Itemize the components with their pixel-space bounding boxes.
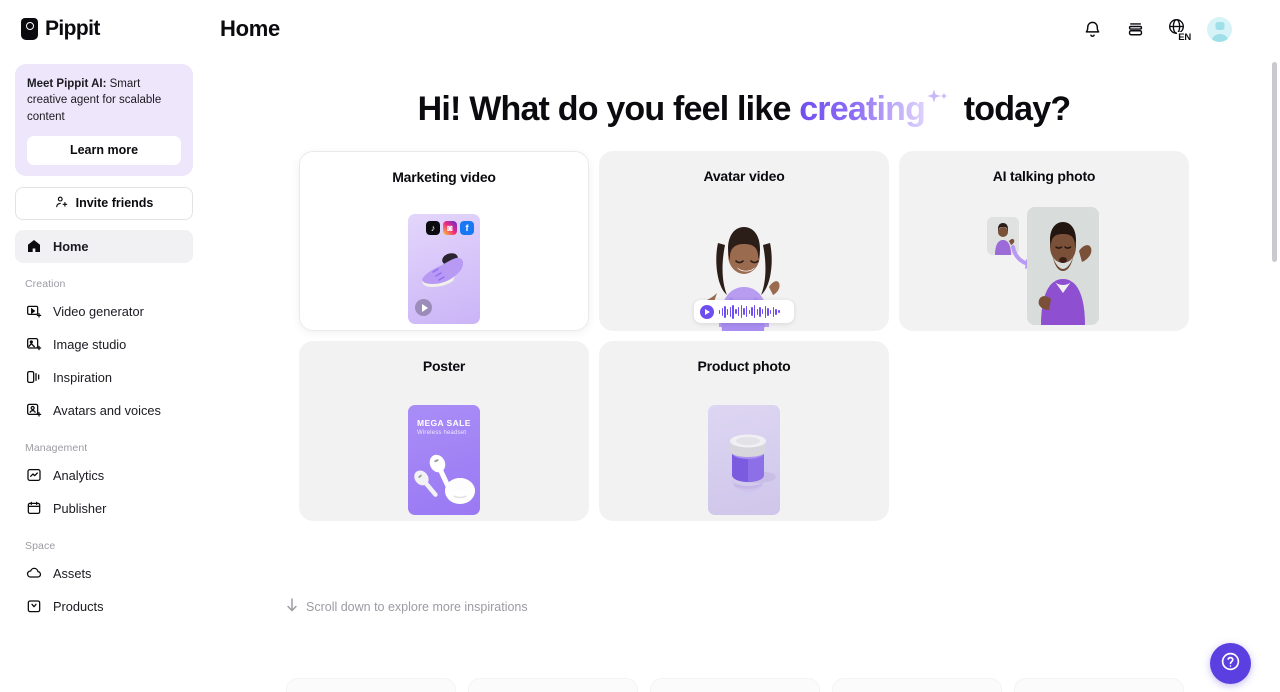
poster-thumbnail: MEGA SALE Wireless headset xyxy=(408,405,480,515)
card-title: Avatar video xyxy=(703,168,784,184)
inspiration-card-peek[interactable] xyxy=(468,678,638,692)
publisher-calendar-icon xyxy=(25,500,42,517)
person-add-icon xyxy=(55,195,69,212)
card-title: Marketing video xyxy=(392,169,496,185)
card-ai-talking-photo[interactable]: AI talking photo xyxy=(899,151,1189,331)
sidebar-item-products-label: Products xyxy=(53,599,104,614)
sidebar-item-analytics-label: Analytics xyxy=(53,468,104,483)
invite-friends-label: Invite friends xyxy=(76,196,154,210)
pippit-logo-icon xyxy=(21,18,38,40)
sidebar-item-assets-label: Assets xyxy=(53,566,91,581)
sidebar-group-management-label: Management xyxy=(15,442,193,454)
cosmetic-jar-illustration xyxy=(708,405,780,515)
card-avatar-video[interactable]: Avatar video xyxy=(599,151,889,331)
language-label: EN xyxy=(1177,32,1191,43)
sidebar-item-avatars-and-voices[interactable]: Avatars and voices xyxy=(15,394,193,427)
analytics-icon xyxy=(25,467,42,484)
promo-text: Meet Pippit AI: Smart creative agent for… xyxy=(27,76,181,125)
card-marketing-video[interactable]: Marketing video ♪ ◙ f xyxy=(299,151,589,331)
help-question-icon xyxy=(1220,651,1241,677)
sidebar-item-image-studio-label: Image studio xyxy=(53,337,126,352)
hero-heading: Hi! What do you feel like creating today… xyxy=(208,90,1280,129)
sidebar-item-video-generator-label: Video generator xyxy=(53,304,144,319)
image-sparkle-icon xyxy=(25,336,42,353)
vertical-scrollbar[interactable] xyxy=(1272,62,1277,262)
hero-suffix: today? xyxy=(955,90,1070,128)
brand-name: Pippit xyxy=(45,17,100,41)
avatar-add-icon xyxy=(25,402,42,419)
sidebar-item-avatars-and-voices-label: Avatars and voices xyxy=(53,403,161,418)
inspiration-icon xyxy=(25,369,42,386)
tiktok-icon: ♪ xyxy=(426,221,440,235)
arrow-down-icon xyxy=(286,598,298,615)
ai-talking-photo-thumbnail xyxy=(899,201,1189,331)
facebook-icon: f xyxy=(460,221,474,235)
hero-prefix: Hi! What do you feel like xyxy=(418,90,800,128)
social-badges: ♪ ◙ f xyxy=(426,221,474,235)
card-title: Product photo xyxy=(697,358,790,374)
sidebar-item-inspiration-label: Inspiration xyxy=(53,370,112,385)
language-selector[interactable]: EN xyxy=(1167,17,1186,41)
poster-subline: Wireless headset xyxy=(417,430,466,436)
sidebar-item-home[interactable]: Home xyxy=(15,230,193,263)
learn-more-button[interactable]: Learn more xyxy=(27,136,181,165)
help-button[interactable] xyxy=(1210,643,1251,684)
sidebar-nav: Home Creation Video generator Image stud… xyxy=(15,230,193,623)
creation-card-grid: Marketing video ♪ ◙ f xyxy=(299,151,1189,521)
product-photo-thumbnail xyxy=(708,405,780,515)
card-poster[interactable]: Poster MEGA SALE Wireless headset xyxy=(299,341,589,521)
inspiration-card-peek[interactable] xyxy=(1014,678,1184,692)
top-actions: EN xyxy=(1081,17,1232,42)
scroll-hint[interactable]: Scroll down to explore more inspirations xyxy=(286,598,528,615)
inspiration-card-peek[interactable] xyxy=(650,678,820,692)
sidebar-item-products[interactable]: Products xyxy=(15,590,193,623)
brand-logo[interactable]: Pippit xyxy=(15,0,193,58)
products-box-icon xyxy=(25,598,42,615)
sidebar-item-assets[interactable]: Assets xyxy=(15,557,193,590)
scroll-hint-label: Scroll down to explore more inspirations xyxy=(306,600,528,614)
promo-card: Meet Pippit AI: Smart creative agent for… xyxy=(15,64,193,176)
page-title: Home xyxy=(220,16,280,42)
bell-icon[interactable] xyxy=(1081,18,1103,40)
play-icon xyxy=(700,305,714,319)
main-content: Home EN Hi! What do you feel like c xyxy=(208,0,1280,692)
topbar: Home EN xyxy=(208,0,1280,58)
sidebar-group-space-label: Space xyxy=(15,540,193,552)
sidebar: Pippit Meet Pippit AI: Smart creative ag… xyxy=(0,0,208,692)
instagram-icon: ◙ xyxy=(443,221,457,235)
cloud-icon xyxy=(25,565,42,582)
sidebar-item-analytics[interactable]: Analytics xyxy=(15,459,193,492)
marketing-video-thumbnail: ♪ ◙ f xyxy=(408,214,480,324)
card-title: AI talking photo xyxy=(993,168,1096,184)
poster-headline: MEGA SALE xyxy=(417,418,471,428)
card-product-photo[interactable]: Product photo xyxy=(599,341,889,521)
promo-title-bold: Meet Pippit AI: xyxy=(27,78,106,90)
result-photo-thumbnail xyxy=(1027,207,1099,325)
audio-player[interactable] xyxy=(694,300,794,323)
sidebar-item-publisher-label: Publisher xyxy=(53,501,106,516)
inspiration-card-peek[interactable] xyxy=(832,678,1002,692)
sidebar-item-image-studio[interactable]: Image studio xyxy=(15,328,193,361)
earbuds-illustration xyxy=(408,447,480,509)
hero-highlight: creating xyxy=(799,90,925,128)
card-title: Poster xyxy=(423,358,465,374)
sidebar-item-inspiration[interactable]: Inspiration xyxy=(15,361,193,394)
avatar-video-thumbnail xyxy=(689,209,799,331)
inspiration-card-peek[interactable] xyxy=(286,678,456,692)
inspiration-preview-row xyxy=(286,678,1184,692)
sidebar-item-publisher[interactable]: Publisher xyxy=(15,492,193,525)
credits-icon[interactable] xyxy=(1124,18,1146,40)
play-icon xyxy=(415,299,432,316)
avatar[interactable] xyxy=(1207,17,1232,42)
app-root: Pippit Meet Pippit AI: Smart creative ag… xyxy=(0,0,1280,692)
sidebar-item-home-label: Home xyxy=(53,239,89,254)
sidebar-group-creation-label: Creation xyxy=(15,278,193,290)
waveform-icon xyxy=(719,305,780,319)
home-icon xyxy=(25,238,42,255)
video-generate-icon xyxy=(25,303,42,320)
invite-friends-button[interactable]: Invite friends xyxy=(15,187,193,220)
sparkle-icon xyxy=(925,100,955,120)
sneaker-illustration xyxy=(416,250,472,290)
sidebar-item-video-generator[interactable]: Video generator xyxy=(15,295,193,328)
